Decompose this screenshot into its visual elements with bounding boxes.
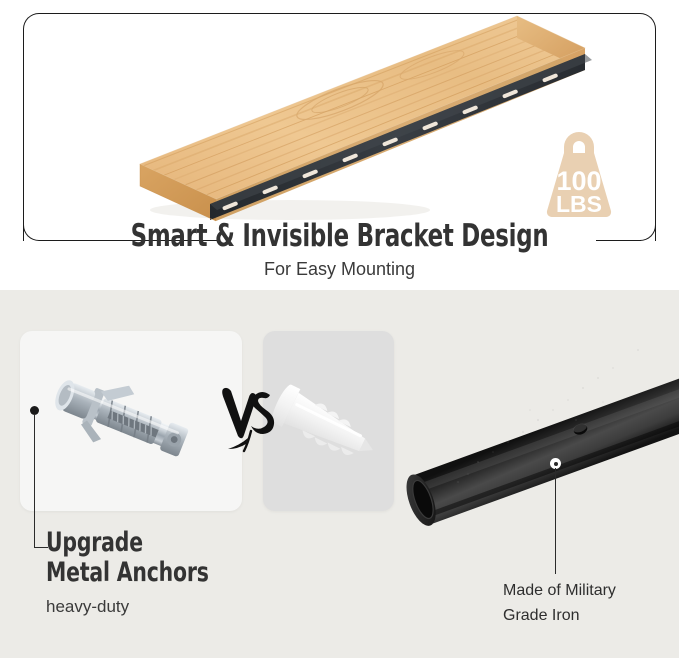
plastic-wall-anchor <box>268 383 383 468</box>
left-callout-leader-vertical <box>34 414 35 548</box>
plastic-anchor-card <box>263 331 394 511</box>
metal-expansion-anchor <box>45 362 196 474</box>
left-callout-title-line2: Metal Anchors <box>46 558 298 588</box>
product-infographic-page: 100 LBS Smart & Invisible Bracket Design… <box>0 0 679 658</box>
page-subtitle: For Easy Mounting <box>0 256 679 282</box>
top-feature-panel: 100 LBS Smart & Invisible Bracket Design… <box>0 0 679 290</box>
right-callout-text: Made of Military Grade Iron <box>503 578 673 628</box>
right-callout-line1: Made of Military <box>503 578 673 603</box>
versus-mark <box>218 383 278 455</box>
left-callout-text: Upgrade Metal Anchors heavy-duty <box>46 528 346 618</box>
right-callout-leader-vertical <box>555 468 556 574</box>
left-callout-title-line1: Upgrade <box>46 528 298 558</box>
right-callout-line2: Grade Iron <box>503 603 673 628</box>
panel-frame-bottom-right-rule <box>616 240 641 241</box>
badge-unit-text: LBS <box>556 191 602 217</box>
iron-pipe-illustration <box>398 292 679 562</box>
weight-capacity-badge: 100 LBS <box>533 128 625 220</box>
metal-anchor-card <box>20 331 242 511</box>
page-title: Smart & Invisible Bracket Design <box>61 216 618 256</box>
left-callout-subtitle: heavy-duty <box>46 596 346 618</box>
